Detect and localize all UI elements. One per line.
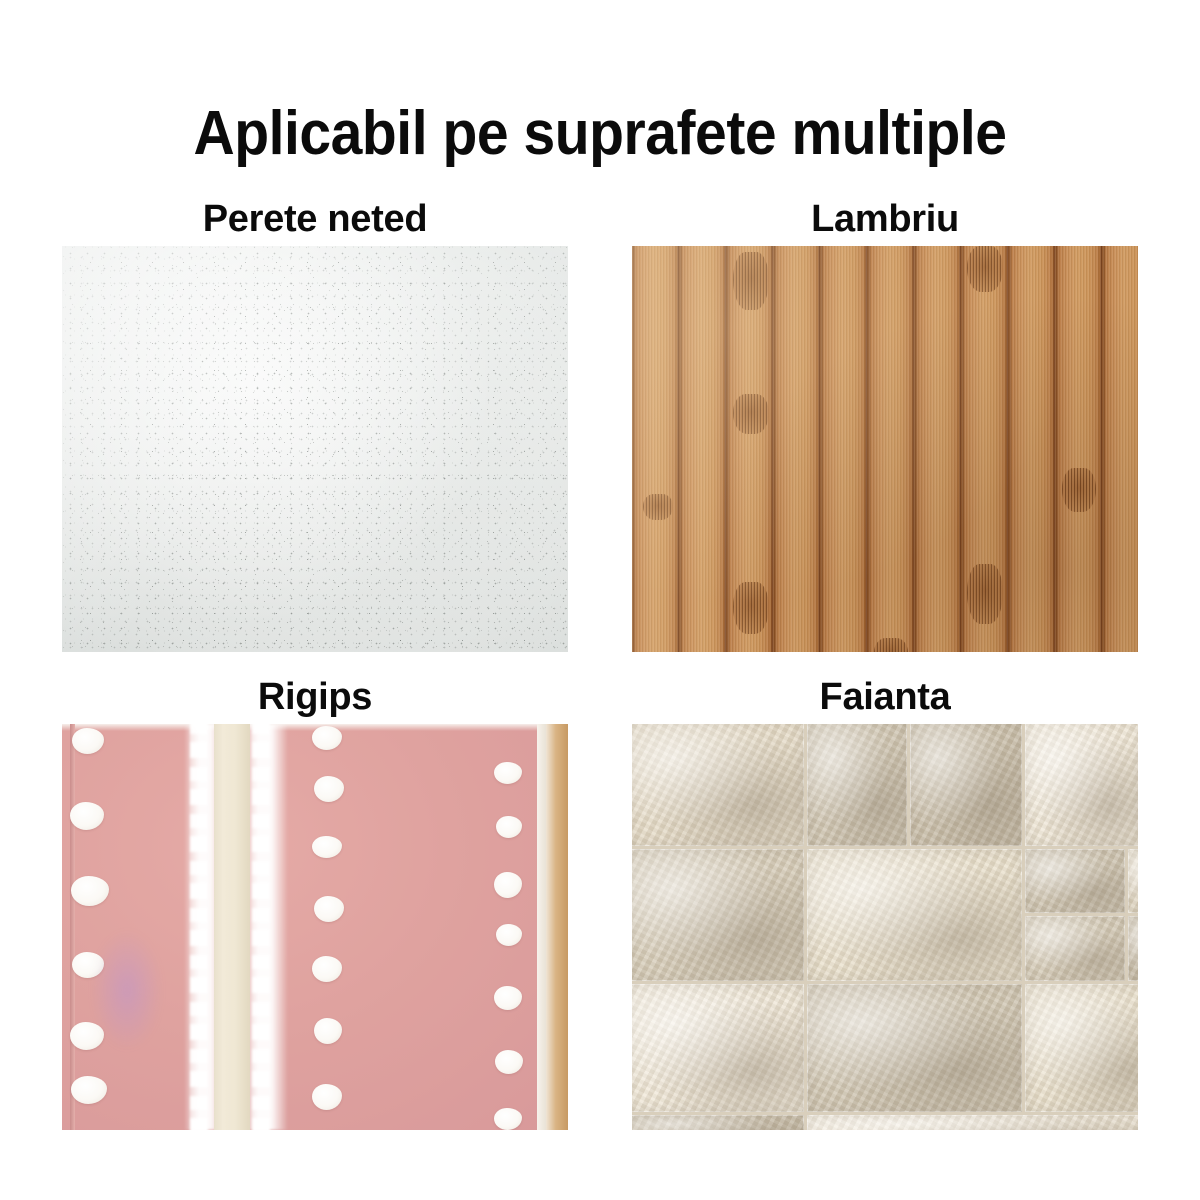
tile <box>1128 916 1138 981</box>
surface-compatibility-infographic: Aplicabil pe suprafete multiple Perete n… <box>0 0 1200 1200</box>
drywall-right-wood-edge <box>546 724 568 1130</box>
surface-card-perete-neted: Perete neted <box>62 196 568 652</box>
surface-label-lambriu: Lambriu <box>632 196 1138 246</box>
spackle-blob <box>494 1108 522 1130</box>
tile <box>632 1115 804 1130</box>
tile <box>1128 849 1138 913</box>
spackle-blob <box>494 986 522 1010</box>
tile <box>1025 984 1138 1112</box>
surface-grid: Perete neted Lambriu <box>62 196 1134 1136</box>
tile <box>807 984 1022 1112</box>
joint-feather-right <box>252 724 270 1130</box>
smooth-wall-texture <box>62 246 568 652</box>
spackle-blob <box>494 762 522 784</box>
bamboo-panel-texture <box>632 246 1138 652</box>
joint-feather-left <box>190 724 208 1130</box>
spackle-blob <box>496 816 522 838</box>
spackle-blob <box>71 876 109 906</box>
surface-card-rigips: Rigips <box>62 674 568 1130</box>
tile <box>1025 849 1125 913</box>
spackle-blob <box>314 896 344 922</box>
spackle-blob <box>312 956 342 982</box>
drywall-right-edge-inner <box>537 724 546 1130</box>
tile <box>807 1115 1138 1130</box>
drywall-left-edge <box>70 724 75 1130</box>
joint-tape-strip <box>214 724 250 1130</box>
surface-label-faianta: Faianta <box>632 674 1138 724</box>
spackle-blob <box>496 924 522 946</box>
pink-drywall-texture <box>62 724 568 1130</box>
spackle-blob <box>314 776 344 802</box>
smooth-wall-shading <box>62 246 568 652</box>
spackle-blob <box>72 728 104 754</box>
spackle-blob <box>70 802 104 830</box>
tile <box>632 984 804 1112</box>
spackle-blob <box>71 1076 107 1104</box>
drywall-light-flare <box>92 930 162 1050</box>
spackle-blob <box>312 726 342 750</box>
tile <box>1025 916 1125 981</box>
surface-label-rigips: Rigips <box>62 674 568 724</box>
tile <box>807 849 1022 981</box>
tile <box>807 724 907 846</box>
spackle-blob <box>312 1084 342 1110</box>
tile <box>632 849 804 981</box>
bamboo-sheen <box>632 246 1138 652</box>
tile <box>632 724 804 846</box>
surface-label-perete-neted: Perete neted <box>62 196 568 246</box>
spackle-blob <box>494 872 522 898</box>
tile <box>910 724 1022 846</box>
stone-tile-texture <box>632 724 1138 1130</box>
spackle-blob <box>312 836 342 858</box>
spackle-blob <box>314 1018 342 1044</box>
tile <box>1025 724 1138 846</box>
surface-card-faianta: Faianta <box>632 674 1138 1130</box>
surface-card-lambriu: Lambriu <box>632 196 1138 652</box>
spackle-blob <box>495 1050 523 1074</box>
page-title: Aplicabil pe suprafete multiple <box>48 99 1152 169</box>
